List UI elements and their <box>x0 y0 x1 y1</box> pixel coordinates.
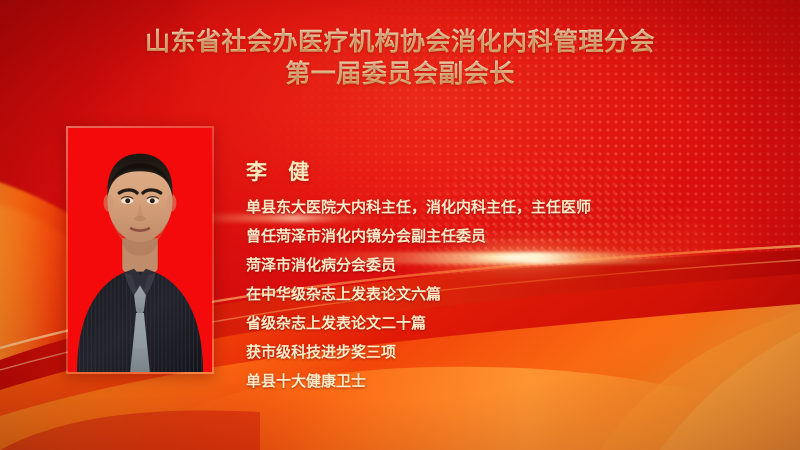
portrait-frame <box>66 126 214 374</box>
credential-line: 获市级科技进步奖三项 <box>246 338 786 367</box>
title-line-2: 第一届委员会副会长 <box>0 58 800 90</box>
title-line-1: 山东省社会办医疗机构协会消化内科管理分会 <box>0 26 800 58</box>
person-info-block: 李 健 单县东大医院大内科主任，消化内科主任，主任医师 曾任菏泽市消化内镜分会副… <box>246 158 786 396</box>
credential-line: 在中华级杂志上发表论文六篇 <box>246 280 786 309</box>
slide-title: 山东省社会办医疗机构协会消化内科管理分会 第一届委员会副会长 <box>0 26 800 90</box>
presentation-slide: 山东省社会办医疗机构协会消化内科管理分会 第一届委员会副会长 <box>0 0 800 450</box>
credential-line: 省级杂志上发表论文二十篇 <box>246 309 786 338</box>
credential-line: 曾任菏泽市消化内镜分会副主任委员 <box>246 222 786 251</box>
person-name: 李 健 <box>246 158 786 186</box>
credential-line: 菏泽市消化病分会委员 <box>246 251 786 280</box>
credential-line: 单县十大健康卫士 <box>246 367 786 396</box>
portrait-photo <box>68 128 212 372</box>
credential-line: 单县东大医院大内科主任，消化内科主任，主任医师 <box>246 193 786 222</box>
